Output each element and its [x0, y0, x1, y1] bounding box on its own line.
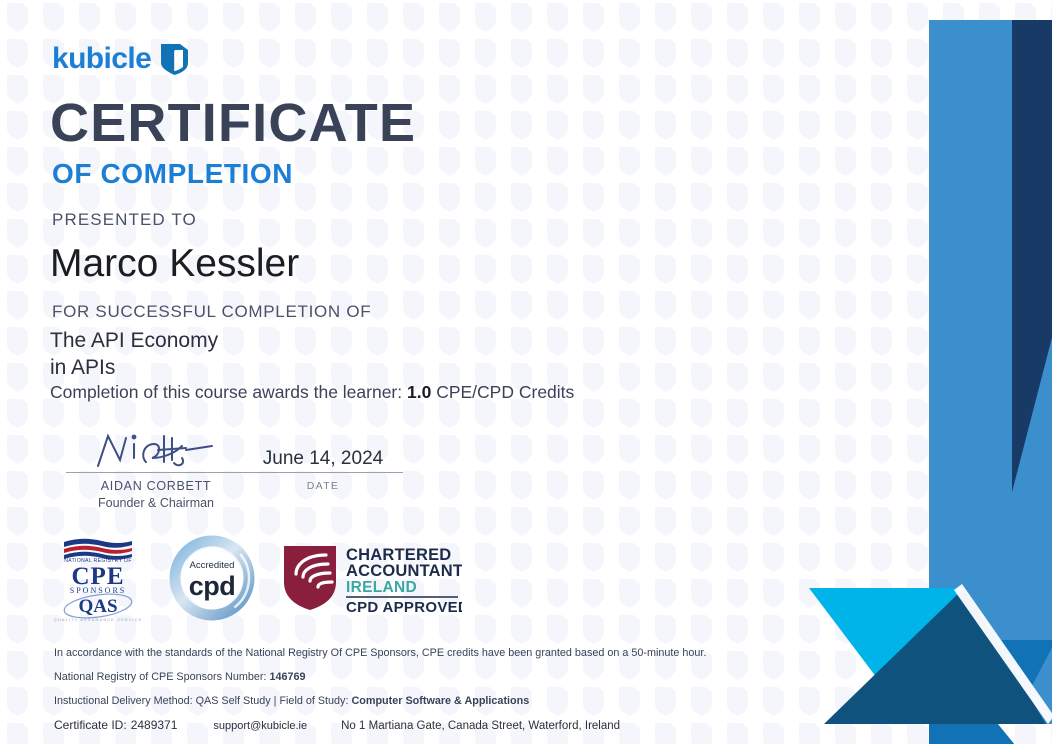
cai-shield-icon	[284, 546, 336, 610]
date-value: June 14, 2024	[243, 428, 403, 470]
presented-to-label: PRESENTED TO	[52, 211, 197, 228]
credits-line: Completion of this course awards the lea…	[50, 384, 574, 402]
qas-text: QAS	[78, 596, 117, 617]
sponsors-text: SPONSORS	[70, 586, 126, 595]
handwritten-signature-icon	[66, 428, 246, 470]
credits-prefix: Completion of this course awards the lea…	[50, 382, 402, 402]
decorative-geometric-artwork	[804, 0, 1052, 744]
cai-line2: ACCOUNTANTS	[346, 562, 462, 580]
cpd-text: cpd	[189, 571, 236, 601]
certificate-content: kubicle CERTIFICATE OF COMPLETION PRESEN…	[0, 0, 700, 744]
svg-text:QUALITY ASSURANCE SERVICE: QUALITY ASSURANCE SERVICE	[54, 617, 143, 622]
brand-logo: kubicle	[52, 42, 189, 75]
course-title-line1: The API Economy	[50, 328, 218, 355]
shield-icon	[160, 42, 189, 75]
registry-line: National Registry of CPE Sponsors Number…	[54, 672, 694, 683]
delivery-line: Instuctional Delivery Method: QAS Self S…	[54, 696, 694, 707]
course-title: The API Economy in APIs	[50, 328, 218, 382]
accredited-cpd-badge: Accredited cpd	[162, 535, 262, 621]
page-title: CERTIFICATE	[50, 96, 416, 150]
support-email[interactable]: support@kubicle.ie	[213, 721, 307, 732]
date-label: DATE	[243, 480, 403, 492]
signatory-name: AIDAN CORBETT	[66, 478, 246, 495]
identity-line: Certificate ID: 2489371 support@kubicle.…	[54, 719, 694, 733]
date-block: June 14, 2024 DATE	[243, 428, 403, 492]
registry-number: 146769	[269, 671, 305, 683]
certificate-id-label: Certificate ID:	[54, 719, 127, 731]
cai-line4: CPD APPROVED	[346, 599, 462, 614]
signature-block: AIDAN CORBETT Founder & Chairman	[66, 428, 246, 512]
registry-label: National Registry of CPE Sponsors Number…	[54, 671, 266, 683]
certificate-id-value: 2489371	[131, 719, 178, 731]
page-subtitle: OF COMPLETION	[52, 160, 293, 188]
compliance-statement: In accordance with the standards of the …	[54, 648, 694, 659]
course-title-line2: in APIs	[50, 355, 218, 382]
recipient-name: Marco Kessler	[50, 243, 299, 286]
brand-wordmark: kubicle	[52, 44, 151, 74]
completion-label: FOR SUCCESSFUL COMPLETION OF	[52, 303, 371, 320]
footer-fine-print: In accordance with the standards of the …	[54, 648, 694, 744]
credits-value: 1.0	[407, 382, 431, 402]
cpe-sponsors-qas-badge: NATIONAL REGISTRY OF CPE SPONSORS QAS QU…	[52, 532, 144, 624]
cai-line3: IRELAND	[346, 579, 417, 596]
accreditation-badges: NATIONAL REGISTRY OF CPE SPONSORS QAS QU…	[52, 532, 462, 624]
signatory-role: Founder & Chairman	[66, 495, 246, 512]
date-rule	[243, 472, 403, 473]
credits-suffix: CPE/CPD Credits	[436, 382, 574, 402]
signature-rule	[66, 472, 246, 473]
field-of-study: Computer Software & Applications	[351, 695, 529, 707]
accredited-text: Accredited	[190, 560, 235, 571]
chartered-accountants-ireland-badge: CHARTERED ACCOUNTANTS IRELAND CPD APPROV…	[280, 542, 462, 614]
delivery-label: Instuctional Delivery Method: QAS Self S…	[54, 695, 348, 707]
flag-icon	[64, 539, 132, 560]
company-address: No 1 Martiana Gate, Canada Street, Water…	[341, 721, 620, 733]
certificate-page: kubicle CERTIFICATE OF COMPLETION PRESEN…	[0, 0, 1052, 744]
